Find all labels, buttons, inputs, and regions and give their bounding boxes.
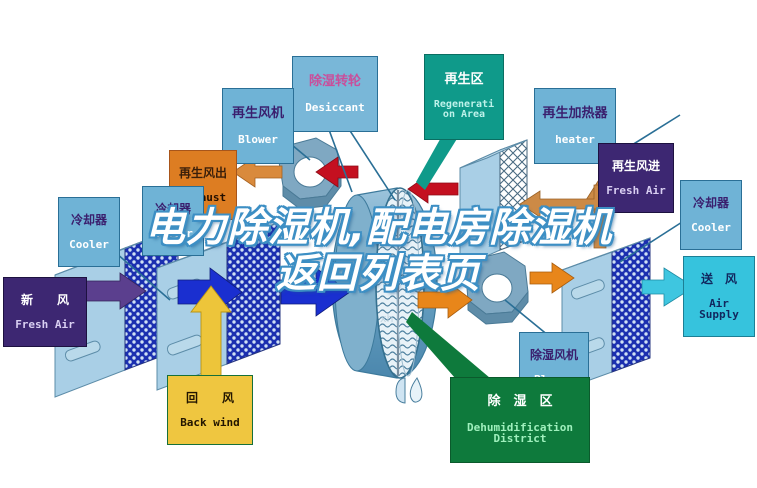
label-air-supply[interactable]: 送 风 Air Supply (683, 256, 755, 337)
regeneration-heater (460, 140, 527, 268)
label-air-supply-cn: 送 风 (686, 273, 752, 286)
label-regen-fresh-air[interactable]: 再生风进 Fresh Air (598, 143, 674, 213)
label-dehum-district[interactable]: 除 湿 区 Dehumidification District (450, 377, 590, 463)
label-desiccant-rotor[interactable]: 除湿转轮 Desiccant (292, 56, 378, 132)
label-dehum-district-en: Dehumidification District (453, 422, 587, 445)
label-regen-blower-cn: 再生风机 (225, 107, 291, 121)
label-cooler-left-1-en: Cooler (61, 239, 117, 251)
label-desiccant-rotor-en: Desiccant (295, 102, 375, 114)
label-regen-fresh-air-cn: 再生风进 (601, 160, 671, 173)
label-desiccant-rotor-cn: 除湿转轮 (295, 75, 375, 89)
desiccant-rotor-wheel: xh (332, 188, 437, 378)
label-back-wind[interactable]: 回 风 Back wind (167, 375, 253, 445)
label-dehum-blower-cn: 除湿风机 (522, 349, 586, 362)
label-fresh-air-in-en: Fresh Air (6, 319, 84, 331)
label-regen-fresh-air-en: Fresh Air (601, 185, 671, 197)
dehumidifier-diagram: xh (0, 0, 757, 488)
condensate-drain-icon (396, 378, 422, 403)
label-fresh-air-in-cn: 新 风 (6, 294, 84, 307)
label-cooler-right-cn: 冷却器 (683, 197, 739, 210)
label-back-wind-en: Back wind (170, 417, 250, 429)
label-regen-heater-cn: 再生加热器 (537, 107, 613, 121)
label-regen-exhaust-cn: 再生风出 (172, 167, 234, 180)
label-cooler-left-2-cn: 冷却器 (145, 203, 201, 216)
label-regen-area-en: Regenerati on Area (427, 100, 501, 121)
label-cooler-left-1[interactable]: 冷却器 Cooler (58, 197, 120, 267)
label-cooler-left-2-en: Cooler (145, 228, 201, 240)
label-cooler-left-1-cn: 冷却器 (61, 214, 117, 227)
label-dehum-district-cn: 除 湿 区 (453, 395, 587, 409)
label-cooler-right[interactable]: 冷却器 Cooler (680, 180, 742, 250)
dehumidification-blower (466, 252, 528, 324)
label-cooler-left-2[interactable]: 冷却器 Cooler (142, 186, 204, 256)
label-air-supply-en: Air Supply (686, 298, 752, 321)
label-cooler-right-en: Cooler (683, 222, 739, 234)
label-regen-area-cn: 再生区 (427, 73, 501, 87)
label-fresh-air-in[interactable]: 新 风 Fresh Air (3, 277, 87, 347)
label-regen-blower-en: Blower (225, 134, 291, 146)
label-back-wind-cn: 回 风 (170, 392, 250, 405)
label-regen-area[interactable]: 再生区 Regenerati on Area (424, 54, 504, 140)
svg-text:xh: xh (380, 312, 394, 325)
